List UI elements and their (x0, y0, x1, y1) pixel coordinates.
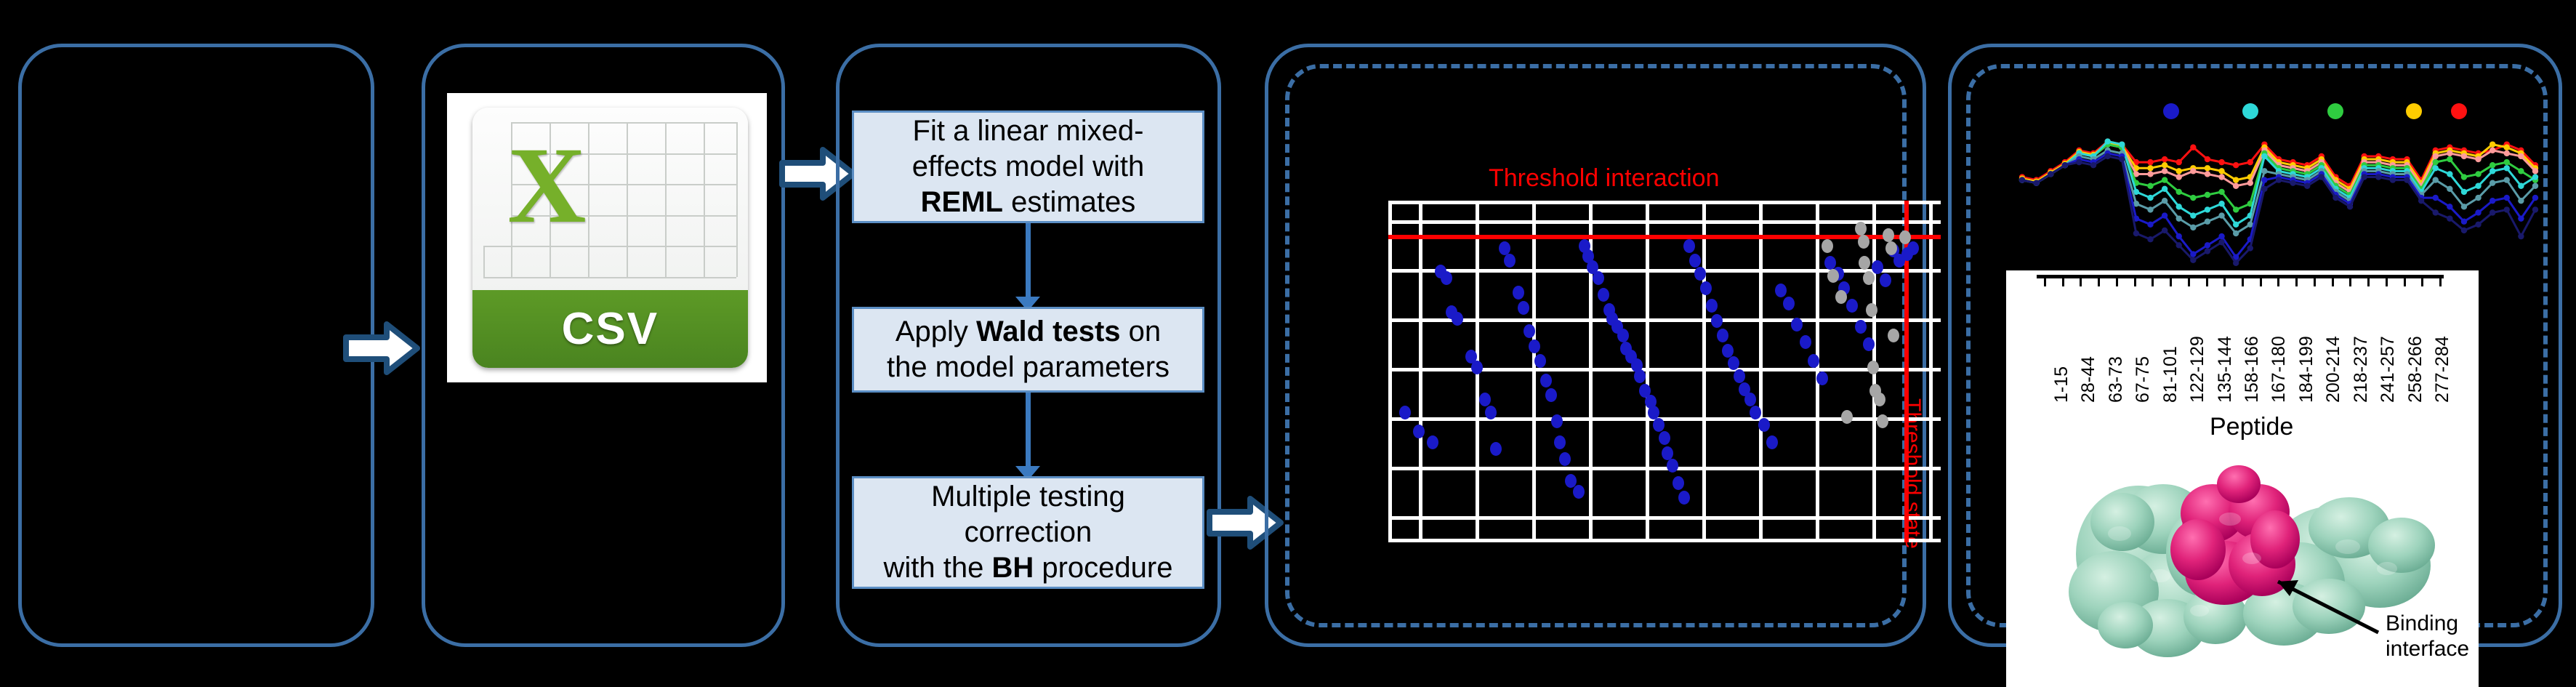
scatter-point (1885, 241, 1897, 255)
scatter-point (1907, 241, 1919, 255)
peptide-tick-labels: 1-1528-4463-7367-7581-101122-129135-1441… (2006, 270, 2479, 416)
peptide-series-marker (2147, 206, 2153, 212)
multiple-testing-step[interactable]: Multiple testing correction with the BH … (852, 476, 1204, 589)
peptide-series-marker (2490, 209, 2495, 215)
peptide-series-marker (2461, 189, 2467, 195)
peptide-tick-label: 167-180 (2269, 336, 2290, 403)
scatter-point (1593, 271, 1604, 285)
scatter-point (1722, 344, 1734, 358)
scatter-point (1524, 324, 1535, 338)
scatter-point (1863, 271, 1875, 285)
peptide-series-marker (2276, 177, 2282, 182)
peptide-tick-label: 200-214 (2323, 336, 2344, 403)
mt-line3-pre: with the (884, 552, 992, 584)
peptide-tick-label: 63-73 (2106, 356, 2127, 403)
scatter-point (1427, 435, 1438, 449)
peptide-series-marker (2490, 198, 2495, 204)
scatter-point (1529, 340, 1540, 353)
peptide-series-marker (2433, 153, 2439, 159)
scatter-point (1728, 356, 1739, 370)
peptide-series-marker (2205, 156, 2210, 162)
peptide-series-marker (2518, 198, 2524, 204)
peptide-series-marker (2218, 233, 2224, 239)
peptide-series-marker (2048, 171, 2053, 177)
scatter-point (1750, 406, 1761, 419)
peptide-series-marker (2218, 201, 2224, 206)
peptide-tick-label: 1-15 (2051, 366, 2072, 403)
scatter-point (1683, 239, 1695, 253)
scatter-point (1551, 414, 1563, 428)
peptide-series-marker (2518, 215, 2524, 221)
scatter-point (1855, 222, 1867, 236)
peptide-series-marker (2447, 171, 2452, 177)
peptide-series-marker (2205, 242, 2210, 248)
peptide-series-marker (2176, 159, 2182, 165)
bh-keyword: BH (991, 552, 1034, 584)
peptide-series-marker (2461, 204, 2467, 209)
peptide-series-marker (2433, 195, 2439, 201)
input-panel (18, 44, 374, 647)
scatter-point (1598, 288, 1609, 302)
scatter-point (1504, 254, 1516, 268)
wald-line2: the model parameters (887, 350, 1170, 385)
scatter-point (1490, 442, 1502, 456)
peptide-line-chart (1992, 87, 2544, 276)
peptide-series-marker (2205, 171, 2210, 177)
peptide-tick-label: 67-75 (2133, 356, 2154, 403)
peptide-series-marker (2333, 195, 2338, 201)
scatter-point (1518, 301, 1529, 315)
peptide-series-marker (2190, 145, 2196, 150)
scatter-point (1766, 435, 1778, 449)
fit-model-step[interactable]: Fit a linear mixed- effects model with R… (852, 111, 1204, 223)
peptide-series-marker (2261, 177, 2267, 182)
scatter-point (1775, 284, 1787, 297)
scatter-point (1734, 369, 1745, 383)
peptide-series-marker (2433, 209, 2439, 215)
peptide-series-marker (2162, 162, 2168, 168)
peptide-series-marker (2190, 225, 2196, 230)
peptide-series-marker (2062, 162, 2068, 168)
scatter-point (1758, 418, 1770, 432)
scatter-point (1413, 425, 1425, 438)
peptide-series-marker (2475, 183, 2481, 189)
scatter-point (1485, 406, 1497, 419)
peptide-series-marker (2475, 195, 2481, 201)
peptide-series-marker (2490, 168, 2495, 174)
scatter-point (1689, 254, 1701, 268)
peptide-series-marker (2205, 248, 2210, 254)
peptide-series-marker (2461, 153, 2467, 159)
peptide-series-marker (2304, 183, 2310, 189)
scatter-point (1808, 354, 1819, 368)
peptide-tick-label: 241-257 (2378, 336, 2399, 403)
peptide-tick-label: 135-144 (2215, 336, 2236, 403)
peptide-series-marker (2490, 180, 2495, 185)
peptide-series-marker (2475, 171, 2481, 177)
peptide-series-marker (2532, 168, 2538, 174)
scatter-point (1399, 406, 1411, 419)
peptide-series-marker (2433, 165, 2439, 171)
binding-interface-annotation: Binding interface (2386, 611, 2469, 662)
mt-line3: with the BH procedure (884, 550, 1173, 586)
peptide-series-marker (2532, 206, 2538, 212)
wald-line1-post: on (1121, 316, 1162, 347)
peptide-series-marker (2162, 168, 2168, 174)
flow-arrow-1 (342, 320, 422, 377)
peptide-series-marker (2104, 153, 2110, 159)
scatter-point (1534, 354, 1546, 368)
scatter-point (1841, 410, 1853, 424)
scatter-point (1855, 320, 1867, 334)
threshold-interaction-label: Threshold interaction (1489, 164, 1720, 193)
scatter-point (1711, 314, 1723, 328)
peptide-series-marker (2490, 162, 2495, 168)
scatter-point (1653, 418, 1665, 432)
connector-2-3 (1026, 393, 1031, 471)
peptide-series-marker (2490, 148, 2495, 153)
peptide-series-marker (2475, 156, 2481, 162)
scatter-point (1667, 459, 1678, 473)
peptide-series-marker (2447, 215, 2452, 221)
peptide-series-marker (2205, 192, 2210, 198)
scatter-point (1513, 286, 1524, 300)
peptide-series-marker (2475, 209, 2481, 215)
peptide-series-marker (2532, 195, 2538, 201)
legend-dot-2 (2242, 103, 2258, 119)
peptide-series-marker (2218, 189, 2224, 195)
scatter-point (1694, 267, 1706, 281)
peptide-series-marker (2147, 171, 2153, 177)
scatter-point (1700, 281, 1712, 295)
peptide-tick-label: 184-199 (2296, 336, 2317, 403)
peptide-series-marker (2261, 186, 2267, 192)
scatter-point (1617, 329, 1629, 342)
scatter-point (1678, 491, 1690, 505)
peptide-series-marker (2147, 236, 2153, 242)
peptide-series-marker (2190, 257, 2196, 263)
scatter-point (1471, 361, 1483, 374)
peptide-series-marker (2461, 174, 2467, 180)
scatter-point (1634, 369, 1646, 383)
scatter-point (1659, 431, 1670, 445)
scatter-point (1880, 273, 1891, 287)
peptide-series-marker (2218, 239, 2224, 245)
peptide-series-marker (2504, 165, 2510, 171)
wald-keyword: Wald tests (976, 316, 1121, 347)
peptide-series-marker (2162, 186, 2168, 192)
peptide-series-marker (2233, 260, 2239, 266)
peptide-tick-label: 28-44 (2078, 356, 2099, 403)
peptide-series-marker (2176, 168, 2182, 174)
reml-keyword: REML (921, 186, 1003, 218)
scatter-point (1866, 303, 1877, 317)
peptide-series-marker (2218, 174, 2224, 180)
scatter-point (1573, 485, 1585, 499)
peptide-series-marker (2218, 159, 2224, 165)
mt-line1: Multiple testing (884, 479, 1173, 515)
scatter-point (1827, 269, 1839, 283)
peptide-series-marker (2218, 168, 2224, 174)
peptide-series-marker (2261, 168, 2267, 174)
legend-dot-1 (2163, 103, 2179, 119)
scatter-point (1706, 299, 1718, 313)
peptide-series-marker (2162, 212, 2168, 218)
scatter-plot-area (1388, 201, 1941, 542)
peptide-series-marker (2447, 156, 2452, 162)
peptide-series-marker (2518, 183, 2524, 189)
peptide-series-marker (2162, 156, 2168, 162)
peptide-series-marker (2233, 177, 2239, 182)
peptide-series-marker (2447, 204, 2452, 209)
peptide-tick-label: 122-129 (2187, 336, 2208, 403)
scatter-point (1791, 318, 1803, 332)
scatter-points-group (1388, 201, 1941, 542)
scatter-point (1888, 329, 1899, 342)
peptide-series-marker (2518, 168, 2524, 174)
peptide-series-marker (2233, 162, 2239, 168)
scatter-point (1744, 393, 1756, 406)
scatter-point (1554, 435, 1566, 449)
excel-x-glyph: X (481, 113, 613, 259)
peptide-series-marker (2518, 153, 2524, 159)
scatter-point (1867, 361, 1879, 374)
mt-line2: correction (884, 515, 1173, 550)
scatter-point (1479, 393, 1491, 406)
scatter-point (1822, 239, 1833, 253)
peptide-tick-label: 158-166 (2242, 336, 2263, 403)
x-axis-title: Peptide (2210, 413, 2293, 441)
peptide-series-marker (2147, 195, 2153, 201)
peptide-series-marker (2076, 159, 2082, 165)
scatter-point (1648, 406, 1659, 419)
peptide-series-marker (2233, 222, 2239, 228)
legend-dot-5 (2451, 103, 2467, 119)
peptide-series-marker (2033, 180, 2039, 185)
peptide-series-marker (2162, 198, 2168, 204)
scatter-point (1545, 388, 1557, 402)
csv-format-label: CSV (472, 290, 747, 368)
fit-model-line2: effects model with (912, 149, 1144, 185)
peptide-series-marker (2205, 165, 2210, 171)
peptide-series-marker (2233, 206, 2239, 212)
scatter-point (1877, 414, 1888, 428)
peptide-series-marker (2361, 174, 2367, 180)
peptide-series-marker (2147, 183, 2153, 189)
peptide-series-marker (2218, 212, 2224, 218)
fit-model-line3: REML estimates (912, 185, 1144, 220)
scatter-point (1800, 335, 1811, 349)
scatter-point (1673, 476, 1684, 490)
peptide-series-marker (2233, 230, 2239, 236)
scatter-point (1452, 312, 1463, 326)
peptide-series-marker (2504, 177, 2510, 182)
peptide-series-marker (2147, 222, 2153, 228)
scatter-point (1835, 290, 1847, 304)
wald-test-step[interactable]: Apply Wald tests on the model parameters (852, 307, 1204, 393)
peptide-series-marker (2190, 168, 2196, 174)
peptide-series-marker (2176, 204, 2182, 209)
scatter-point (1899, 230, 1911, 244)
peptide-series-marker (2418, 198, 2424, 204)
peptide-series-marker (2162, 177, 2168, 182)
scatter-point (1540, 374, 1552, 387)
peptide-series-marker (2233, 183, 2239, 189)
mt-line3-post: procedure (1034, 552, 1172, 584)
diagram-canvas: X CSV Fit a linear mixed- effects model … (0, 0, 2576, 687)
scatter-point (1717, 329, 1728, 342)
protein-structure-image: Binding interface (2044, 452, 2451, 670)
peptide-series-marker (2532, 183, 2538, 189)
peptide-series-marker (2433, 177, 2439, 182)
scatter-point (1874, 393, 1885, 406)
peptide-series-marker (2504, 195, 2510, 201)
wald-line1-pre: Apply (895, 316, 976, 347)
peptide-series-marker (2461, 219, 2467, 225)
peptide-series-marker (2190, 212, 2196, 218)
peptide-series-marker (2475, 222, 2481, 228)
peptide-series-marker (2447, 150, 2452, 156)
peptide-series-marker (2176, 215, 2182, 221)
peptide-series-marker (2247, 159, 2253, 165)
scatter-point (1863, 337, 1875, 351)
peptide-series-marker (2247, 180, 2253, 185)
peptide-series-marker (2176, 174, 2182, 180)
peptide-series-marker (2404, 177, 2410, 182)
peptide-series-marker (2104, 138, 2110, 144)
connector-1-2 (1026, 223, 1031, 302)
fit-model-line3-rest: estimates (1003, 186, 1135, 218)
peptide-tick-label: 277-284 (2432, 336, 2453, 403)
peptide-series-marker (2247, 245, 2253, 251)
threshold-scatter-chart: Threshold interaction Threshold state (1285, 64, 1907, 627)
peptide-series-marker (2504, 150, 2510, 156)
fit-model-line1: Fit a linear mixed- (912, 113, 1144, 149)
peptide-series-marker (2461, 228, 2467, 233)
peptide-series-marker (2518, 233, 2524, 239)
scatter-point (1872, 260, 1883, 274)
peptide-tick-label: 81-101 (2160, 346, 2181, 403)
binding-interface-line1: Binding (2386, 611, 2469, 636)
peptide-series-marker (2504, 206, 2510, 212)
csv-card: X CSV (472, 108, 747, 368)
peptide-series-marker (2176, 233, 2182, 239)
peptide-series-marker (2190, 195, 2196, 201)
scatter-point (1846, 299, 1858, 313)
peptide-series-marker (2019, 177, 2025, 182)
scatter-point (1816, 371, 1828, 385)
binding-interface-line2: interface (2386, 636, 2469, 662)
scatter-point (1499, 241, 1510, 255)
peptide-series-marker (2176, 189, 2182, 195)
scatter-point (1662, 446, 1673, 460)
peptide-series-marker (2119, 141, 2125, 147)
csv-file-icon[interactable]: X CSV (447, 93, 767, 382)
peptide-series-marker (2532, 174, 2538, 180)
peptide-series-marker (2504, 145, 2510, 150)
legend-dot-3 (2327, 103, 2343, 119)
peptide-series-marker (2347, 204, 2353, 209)
peptide-series-marker (2133, 230, 2139, 236)
peptide-series-marker (2147, 159, 2153, 165)
scatter-point (1559, 452, 1571, 466)
peptide-series-marker (2205, 206, 2210, 212)
peptide-series-marker (2433, 159, 2439, 165)
peptide-series-marker (2162, 228, 2168, 233)
peptide-series-marker (2205, 219, 2210, 225)
peptide-series-marker (2375, 174, 2381, 180)
peptide-series-marker (2447, 186, 2452, 192)
peptide-series-marker (2090, 162, 2096, 168)
peptide-tick-label: 258-266 (2405, 336, 2426, 403)
scatter-point (1441, 271, 1452, 285)
scatter-point (1859, 256, 1870, 270)
wald-line1: Apply Wald tests on (887, 314, 1170, 350)
peptide-series-marker (2176, 242, 2182, 248)
legend-dot-4 (2406, 103, 2422, 119)
peptide-series-marker (2319, 174, 2325, 180)
peptide-tick-label: 218-237 (2351, 336, 2372, 403)
scatter-point (1858, 235, 1869, 249)
peptide-series-marker (2290, 180, 2295, 185)
scatter-point (1783, 297, 1795, 310)
scatter-point (1883, 228, 1894, 242)
peptide-series-marker (2490, 141, 2495, 147)
peptide-series-marker (2261, 153, 2267, 159)
peptide-series-marker (2147, 165, 2153, 171)
peptide-series-marker (2504, 159, 2510, 165)
y-axis-tick-0: 0.0 (1971, 265, 2003, 292)
peptide-series-marker (2390, 177, 2396, 182)
peptide-series-marker (2119, 156, 2125, 162)
